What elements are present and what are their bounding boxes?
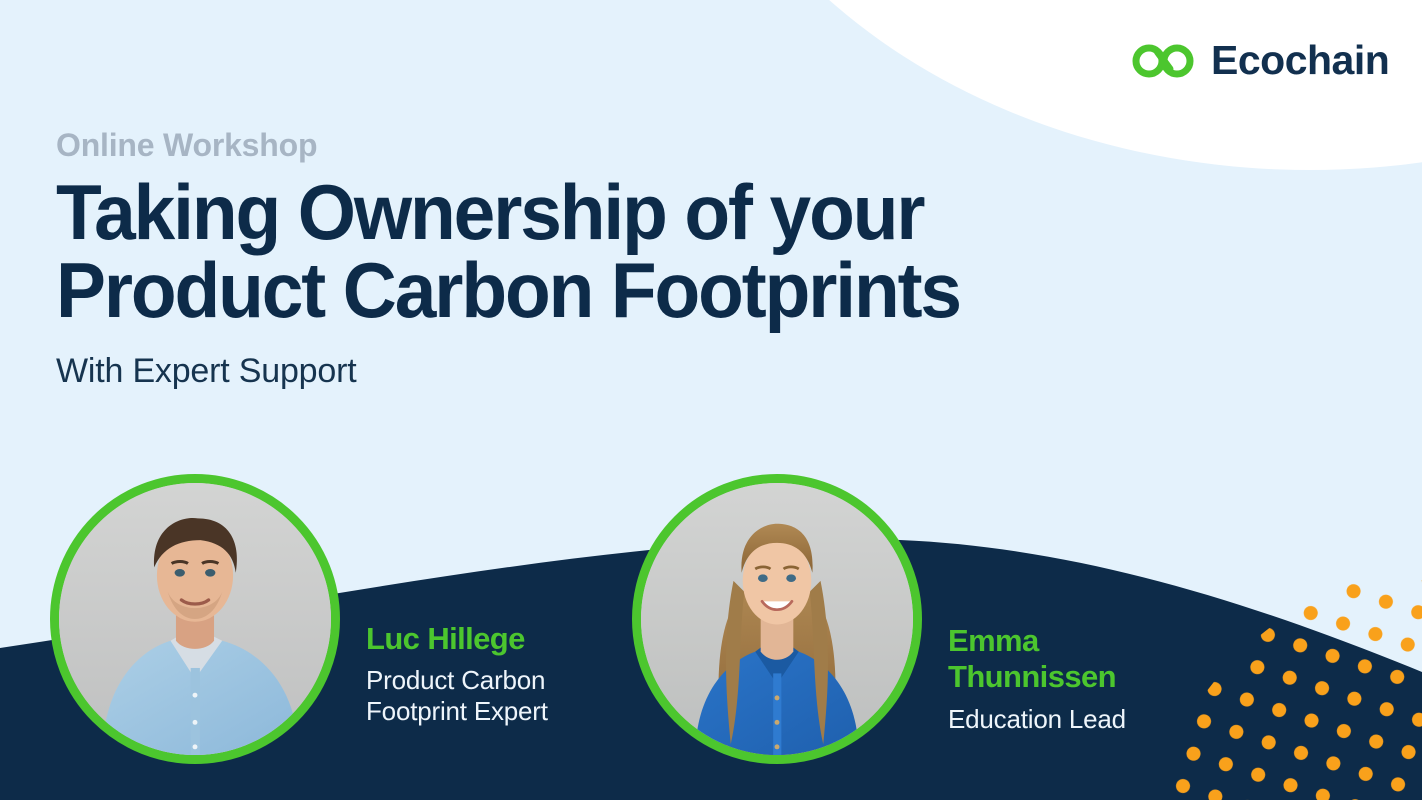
speaker-meta-luc: Luc Hillege Product Carbon Footprint Exp… — [366, 621, 548, 728]
title-line-1: Taking Ownership of your — [56, 174, 1074, 251]
brand-name: Ecochain — [1211, 40, 1389, 81]
avatar-emma — [632, 474, 922, 764]
headline-block: Online Workshop Taking Ownership of your… — [56, 126, 1116, 392]
portrait-emma-thunnissen — [641, 483, 913, 755]
speaker-meta-emma: Emma Thunnissen Education Lead — [948, 623, 1126, 735]
speaker-role-luc: Product Carbon Footprint Expert — [366, 665, 548, 727]
speaker-card-emma: Emma Thunnissen Education Lead — [632, 474, 1126, 764]
page-subtitle: With Expert Support — [56, 351, 1116, 392]
portrait-luc-hillege — [59, 483, 331, 755]
page-title: Taking Ownership of your Product Carbon … — [56, 174, 1074, 328]
banner-canvas: Ecochain Online Workshop Taking Ownershi… — [0, 0, 1422, 800]
speaker-role-emma: Education Lead — [948, 704, 1126, 735]
speaker-card-luc: Luc Hillege Product Carbon Footprint Exp… — [50, 474, 548, 764]
eyebrow-label: Online Workshop — [56, 126, 1116, 164]
infinity-chain-icon — [1131, 41, 1195, 81]
title-line-2: Product Carbon Footprints — [56, 252, 1074, 329]
avatar-luc — [50, 474, 340, 764]
speaker-name-emma: Emma Thunnissen — [948, 623, 1126, 696]
brand-logo[interactable]: Ecochain — [1131, 40, 1389, 81]
speaker-name-luc: Luc Hillege — [366, 621, 548, 658]
